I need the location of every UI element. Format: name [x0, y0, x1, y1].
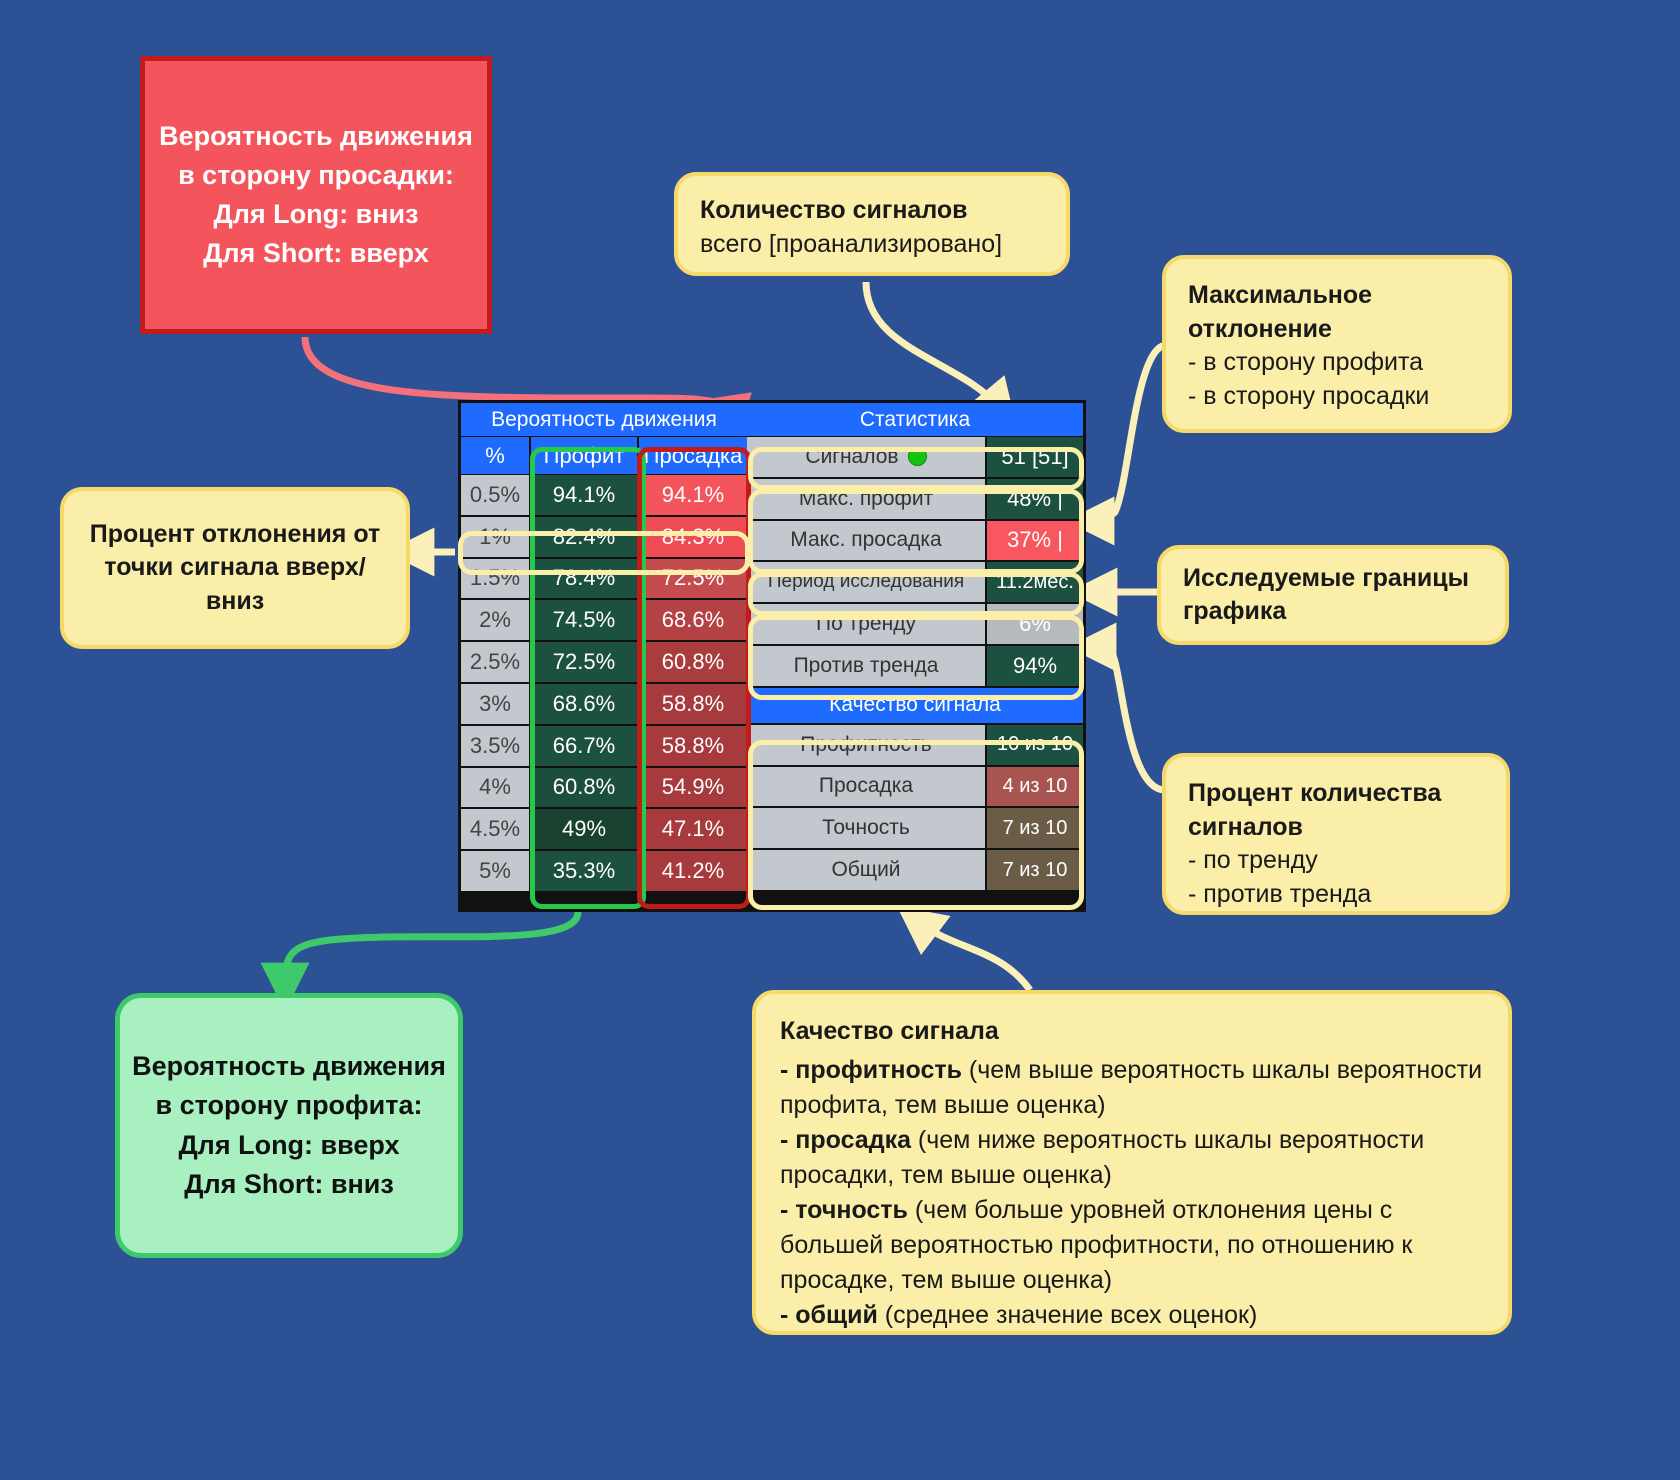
deviation-percent-line2: точки сигнала вверх/ — [86, 551, 384, 585]
signal-quality-title: Качество сигнала — [780, 1014, 1484, 1049]
quality-name: Профитность — [747, 725, 987, 767]
column-header-percent[interactable]: % — [461, 437, 531, 475]
signal-quality-item-2-bold: - точность — [780, 1196, 908, 1224]
row-percent: 4.5% — [461, 809, 531, 851]
quality-value: 7 из 10 — [987, 850, 1083, 892]
signals-count-title: Количество сигналов — [700, 194, 1044, 228]
callout-signal-quality: Качество сигнала - профитность (чем выше… — [752, 990, 1512, 1335]
stat-row[interactable]: Макс. просадка 37% | — [747, 521, 1083, 563]
stat-value: 37% | — [987, 521, 1083, 563]
stat-row[interactable]: Макс. профит 48% | — [747, 479, 1083, 521]
table-row[interactable]: 3.5% 66.7% 58.8% — [461, 726, 747, 768]
row-drawdown: 58.8% — [639, 726, 747, 768]
row-drawdown: 41.2% — [639, 851, 747, 893]
row-drawdown: 94.1% — [639, 475, 747, 517]
quality-row[interactable]: Просадка 4 из 10 — [747, 767, 1083, 809]
signal-quality-item: - общий (среднее значение всех оценок) — [780, 1298, 1484, 1333]
signal-quality-item: - профитность (чем выше вероятность шкал… — [780, 1053, 1484, 1123]
stat-name: Макс. профит — [747, 479, 987, 521]
drawdown-direction-line4: Для Short: вверх — [159, 234, 473, 273]
probability-pane: Вероятность движения % Профит Просадка 0… — [461, 403, 747, 909]
quality-value: 4 из 10 — [987, 767, 1083, 809]
row-percent: 2% — [461, 600, 531, 642]
quality-header: Качество сигнала — [747, 688, 1083, 725]
table-row[interactable]: 1% 82.4% 84.3% — [461, 517, 747, 559]
row-drawdown: 60.8% — [639, 642, 747, 684]
statistics-pane: Статистика Сигналов 51 [51] Макс. профит… — [747, 403, 1083, 909]
profit-direction-line2: в сторону профита: — [132, 1086, 446, 1125]
callout-chart-bounds: Исследуемые границы графика — [1157, 545, 1509, 645]
row-percent: 3.5% — [461, 726, 531, 768]
table-row[interactable]: 2% 74.5% 68.6% — [461, 600, 747, 642]
callout-signals-count: Количество сигналов всего [проанализиров… — [674, 172, 1070, 276]
max-deviation-title-2: отклонение — [1188, 313, 1486, 347]
row-profit: 68.6% — [531, 684, 639, 726]
row-profit: 35.3% — [531, 851, 639, 893]
table-row[interactable]: 3% 68.6% 58.8% — [461, 684, 747, 726]
row-percent: 1.5% — [461, 559, 531, 601]
signal-share-item-1: - по тренду — [1188, 844, 1484, 878]
probability-header: Вероятность движения — [461, 403, 747, 437]
max-deviation-item-2: - в сторону просадки — [1188, 380, 1486, 414]
max-deviation-title-1: Максимальное — [1188, 279, 1486, 313]
row-profit: 94.1% — [531, 475, 639, 517]
quality-value: 10 из 10 — [987, 725, 1083, 767]
table-row[interactable]: 5% 35.3% 41.2% — [461, 851, 747, 893]
table-row[interactable]: 1.5% 78.4% 72.5% — [461, 559, 747, 601]
row-drawdown: 84.3% — [639, 517, 747, 559]
quality-name: Просадка — [747, 767, 987, 809]
stat-name: Сигналов — [747, 437, 987, 479]
table-row[interactable]: 0.5% 94.1% 94.1% — [461, 475, 747, 517]
row-drawdown: 58.8% — [639, 684, 747, 726]
signal-quality-item-0-bold: - профитность — [780, 1056, 962, 1084]
stat-value: 48% | — [987, 479, 1083, 521]
max-deviation-item-1: - в сторону профита — [1188, 346, 1486, 380]
column-header-drawdown[interactable]: Просадка — [639, 437, 747, 475]
statistics-widget: Вероятность движения % Профит Просадка 0… — [458, 400, 1086, 912]
row-percent: 1% — [461, 517, 531, 559]
profit-direction-line1: Вероятность движения — [132, 1047, 446, 1086]
signal-quality-item-3-bold: - общий — [780, 1301, 878, 1329]
stat-row[interactable]: По тренду 6% — [747, 604, 1083, 646]
table-row[interactable]: 2.5% 72.5% 60.8% — [461, 642, 747, 684]
stat-value: 6% — [987, 604, 1083, 646]
signal-share-title-2: сигналов — [1188, 811, 1484, 845]
diagram-canvas: Вероятность движения в сторону просадки:… — [0, 0, 1680, 1480]
statistics-header: Статистика — [747, 403, 1083, 437]
signal-quality-item: - точность (чем больше уровней отклонени… — [780, 1193, 1484, 1298]
row-drawdown: 72.5% — [639, 559, 747, 601]
row-profit: 49% — [531, 809, 639, 851]
signal-quality-item-3-rest: (среднее значение всех оценок) — [878, 1301, 1257, 1329]
column-header-profit[interactable]: Профит — [531, 437, 639, 475]
table-row[interactable]: 4.5% 49% 47.1% — [461, 809, 747, 851]
quality-row[interactable]: Профитность 10 из 10 — [747, 725, 1083, 767]
signals-count-body: всего [проанализировано] — [700, 228, 1044, 262]
quality-name: Точность — [747, 808, 987, 850]
stat-name: Макс. просадка — [747, 521, 987, 563]
stat-row[interactable]: Сигналов 51 [51] — [747, 437, 1083, 479]
signal-share-title-1: Процент количества — [1188, 777, 1484, 811]
row-percent: 2.5% — [461, 642, 531, 684]
row-profit: 72.5% — [531, 642, 639, 684]
profit-direction-line4: Для Short: вниз — [132, 1165, 446, 1204]
stat-name: Период исследования — [747, 562, 987, 604]
row-drawdown: 54.9% — [639, 768, 747, 810]
row-profit: 66.7% — [531, 726, 639, 768]
signal-share-item-2: - против тренда — [1188, 878, 1484, 912]
profit-direction-line3: Для Long: вверх — [132, 1126, 446, 1165]
stat-name: По тренду — [747, 604, 987, 646]
stat-value: 51 [51] — [987, 437, 1083, 479]
stat-name: Против тренда — [747, 646, 987, 688]
row-percent: 0.5% — [461, 475, 531, 517]
quality-name: Общий — [747, 850, 987, 892]
callout-signal-share: Процент количества сигналов - по тренду … — [1162, 753, 1510, 915]
drawdown-direction-line3: Для Long: вниз — [159, 195, 473, 234]
deviation-percent-line3: вниз — [86, 585, 384, 619]
stat-row[interactable]: Против тренда 94% — [747, 646, 1083, 688]
row-percent: 5% — [461, 851, 531, 893]
chart-bounds-line2: графика — [1183, 595, 1483, 629]
row-profit: 74.5% — [531, 600, 639, 642]
green-dot-icon — [908, 447, 927, 466]
callout-max-deviation: Максимальное отклонение - в сторону проф… — [1162, 255, 1512, 433]
row-percent: 4% — [461, 768, 531, 810]
table-row[interactable]: 4% 60.8% 54.9% — [461, 768, 747, 810]
stat-value: 94% — [987, 646, 1083, 688]
signal-quality-item: - просадка (чем ниже вероятность шкалы в… — [780, 1123, 1484, 1193]
stat-value: 11.2мес. — [987, 562, 1083, 604]
chart-bounds-line1: Исследуемые границы — [1183, 562, 1483, 596]
stat-label: Сигналов — [805, 445, 898, 469]
drawdown-direction-line2: в сторону просадки: — [159, 156, 473, 195]
stat-row[interactable]: Период исследования 11.2мес. — [747, 562, 1083, 604]
drawdown-direction-line1: Вероятность движения — [159, 117, 473, 156]
signal-quality-item-1-bold: - просадка — [780, 1126, 911, 1154]
row-drawdown: 68.6% — [639, 600, 747, 642]
row-profit: 78.4% — [531, 559, 639, 601]
row-profit: 60.8% — [531, 768, 639, 810]
quality-row[interactable]: Общий 7 из 10 — [747, 850, 1083, 892]
quality-row[interactable]: Точность 7 из 10 — [747, 808, 1083, 850]
probability-column-headers: % Профит Просадка — [461, 437, 747, 475]
row-profit: 82.4% — [531, 517, 639, 559]
row-drawdown: 47.1% — [639, 809, 747, 851]
callout-deviation-percent: Процент отклонения от точки сигнала ввер… — [60, 487, 410, 649]
callout-profit-direction: Вероятность движения в сторону профита: … — [115, 993, 463, 1258]
row-percent: 3% — [461, 684, 531, 726]
quality-value: 7 из 10 — [987, 808, 1083, 850]
deviation-percent-line1: Процент отклонения от — [86, 518, 384, 552]
callout-drawdown-direction: Вероятность движения в сторону просадки:… — [140, 56, 492, 334]
